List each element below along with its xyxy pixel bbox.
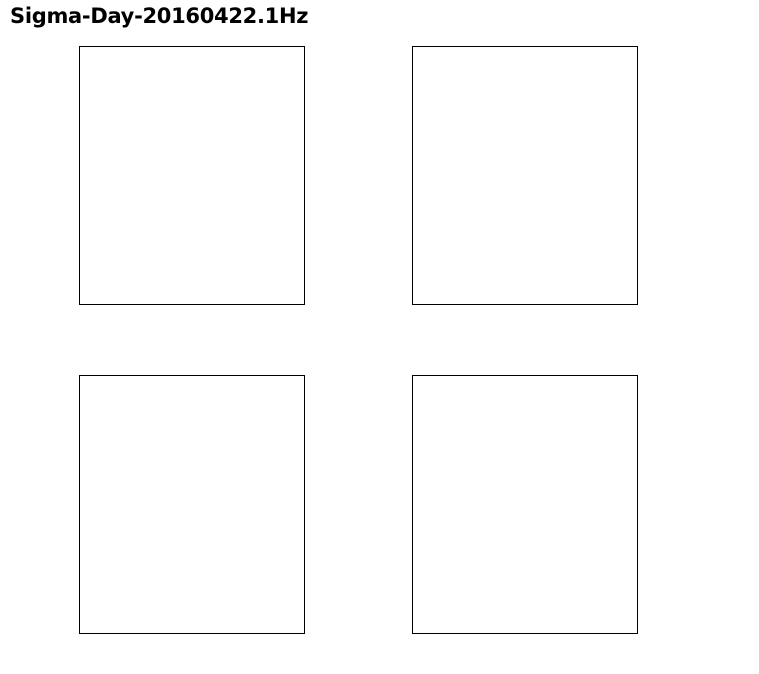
colorbar-bottom-left xyxy=(318,375,406,650)
polar-panel-top-left[interactable] xyxy=(79,46,305,305)
figure-title: Sigma-Day-20160422.1Hz xyxy=(10,4,308,28)
figure-root: Sigma-Day-20160422.1Hz xyxy=(0,0,759,674)
polar-panel-top-right[interactable] xyxy=(412,46,638,305)
polar-panel-bottom-left[interactable] xyxy=(79,375,305,634)
colorbar-top-left xyxy=(318,46,406,321)
colorbar-bottom-right xyxy=(652,375,752,650)
polar-panel-bottom-right[interactable] xyxy=(412,375,638,634)
colorbar-top-right xyxy=(652,46,752,321)
